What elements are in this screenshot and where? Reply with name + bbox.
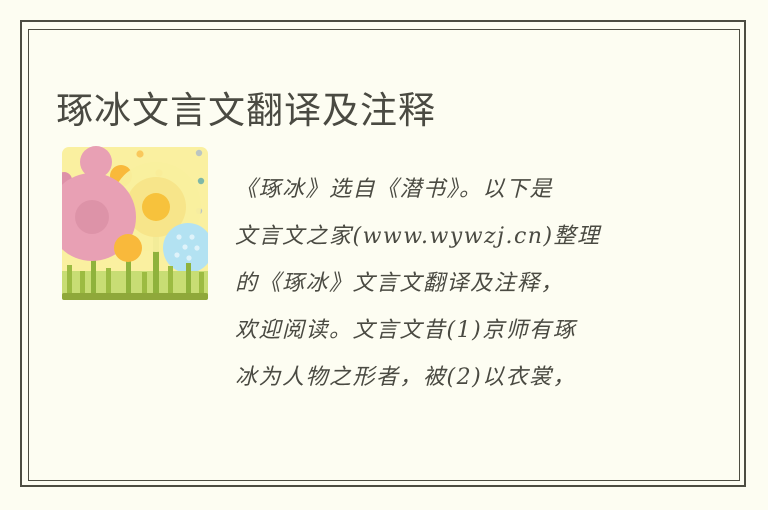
grass-blade [91,265,96,295]
grass-blade [67,265,72,295]
article-line: 欢迎阅读。文言文昔(1)京师有琢 [235,307,655,354]
grass-blade [199,272,204,295]
illustration-svg [62,145,208,303]
yellow-blossom-core [142,193,170,221]
grass-blade [126,262,131,295]
decorative-dot-icon [196,150,202,156]
grass-blade [186,263,191,295]
grass-blade [142,272,147,295]
blue-blossom-dot [182,244,187,249]
grass-blade [168,266,173,295]
decorative-dot-icon [198,178,204,184]
grass-blade [106,268,111,295]
article-line: 文言文之家(www.wywzj.cn)整理 [235,213,655,260]
blue-blossom-dot [176,234,181,239]
grass-blade [153,262,159,295]
article-line: 《琢冰》选自《潜书》。以下是 [235,166,655,213]
flowers-garden-illustration [62,145,208,303]
article-line: 冰为人物之形者，被(2)以衣裳， [235,354,655,396]
page-title: 琢冰文言文翻译及注释 [56,87,436,135]
ground-line [62,293,208,300]
decorative-dot-icon [136,150,143,157]
pink-blossom-core [75,200,109,234]
blue-blossom-dot [186,255,191,260]
orange-blossom [114,234,142,262]
blue-blossom-dot [174,252,179,257]
article-body: 《琢冰》选自《潜书》。以下是 文言文之家(www.wywzj.cn)整理 的《琢… [235,166,655,396]
page-container: 琢冰文言文翻译及注释 [0,0,768,510]
blue-blossom-dot [189,234,194,239]
article-line: 的《琢冰》文言文翻译及注释， [235,260,655,307]
grass-blade [80,271,85,295]
blue-blossom-dot [194,245,199,250]
